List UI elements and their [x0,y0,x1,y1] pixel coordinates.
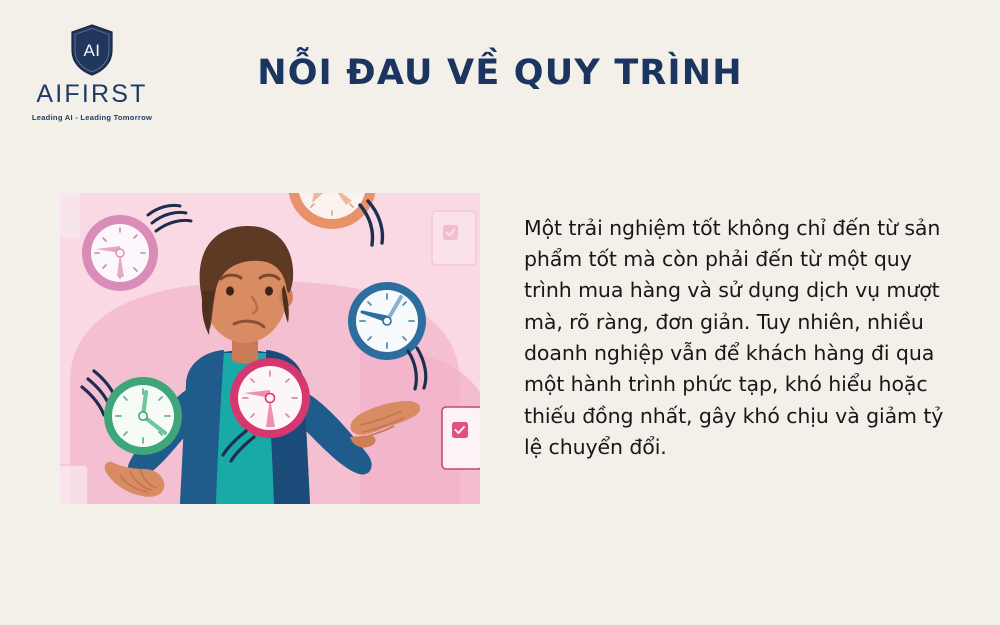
ai-shield-icon: AI [70,24,114,76]
illustration-artwork [60,193,480,504]
page-title: NỖI ĐAU VỀ QUY TRÌNH [200,53,800,93]
logo-wordmark: AIFIRST [36,82,147,107]
card-checkbox-upper-right [432,211,476,265]
hero-illustration [60,193,480,504]
brand-logo: AI AIFIRST Leading AI - Leading Tomorrow [22,24,162,122]
card-bottom-left [60,465,88,504]
body-paragraph: Một trải nghiệm tốt không chỉ đến từ sản… [524,213,944,464]
card-checkbox-lower-right [442,407,480,469]
logo-tagline: Leading AI - Leading Tomorrow [32,114,152,122]
svg-text:AI: AI [83,41,100,60]
